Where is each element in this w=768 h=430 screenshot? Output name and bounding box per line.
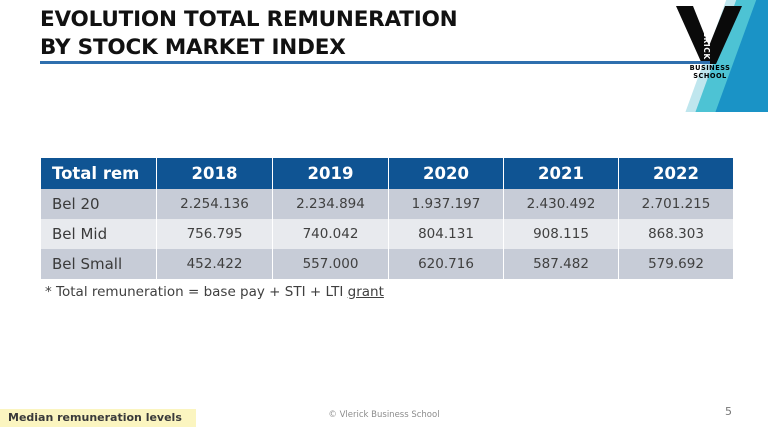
table-header: Total rem 2018 2019 2020 2021 2022	[41, 158, 733, 189]
copyright-notice: © Vlerick Business School	[0, 410, 768, 420]
cell-value: 2.254.136	[157, 189, 272, 219]
column-header-2021: 2021	[504, 158, 618, 189]
vlerick-logo: VLERICK BUSINESS SCHOOL	[658, 0, 768, 112]
row-label: Bel 20	[41, 189, 156, 219]
column-header-label: Total rem	[41, 158, 156, 189]
logo-subtitle-line1: BUSINESS	[674, 64, 746, 72]
logo-subtitle-line2: SCHOOL	[674, 72, 746, 80]
remuneration-table-wrapper: Total rem 2018 2019 2020 2021 2022 Bel 2…	[40, 158, 729, 279]
page-number: 5	[725, 405, 732, 418]
table-row: Bel Small 452.422 557.000 620.716 587.48…	[41, 249, 733, 279]
column-header-2020: 2020	[389, 158, 503, 189]
cell-value: 2.430.492	[504, 189, 618, 219]
page-title-line2: BY STOCK MARKET INDEX	[40, 34, 660, 62]
page-title-line1: EVOLUTION TOTAL REMUNERATION	[40, 6, 660, 34]
cell-value: 579.692	[619, 249, 733, 279]
footnote-text: * Total remuneration = base pay + STI + …	[45, 284, 348, 300]
slide-canvas: VLERICK BUSINESS SCHOOL EVOLUTION TOTAL …	[0, 0, 768, 430]
row-label: Bel Mid	[41, 219, 156, 249]
cell-value: 756.795	[157, 219, 272, 249]
cell-value: 587.482	[504, 249, 618, 279]
remuneration-table: Total rem 2018 2019 2020 2021 2022 Bel 2…	[40, 158, 734, 279]
cell-value: 804.131	[389, 219, 503, 249]
cell-value: 452.422	[157, 249, 272, 279]
cell-value: 1.937.197	[389, 189, 503, 219]
logo-wordmark: VLERICK	[702, 20, 711, 60]
cell-value: 740.042	[273, 219, 388, 249]
logo-subtitle: BUSINESS SCHOOL	[674, 64, 746, 80]
footnote-underlined-text: grant	[348, 284, 384, 300]
cell-value: 620.716	[389, 249, 503, 279]
row-label: Bel Small	[41, 249, 156, 279]
cell-value: 557.000	[273, 249, 388, 279]
footnote: * Total remuneration = base pay + STI + …	[45, 284, 384, 300]
cell-value: 2.234.894	[273, 189, 388, 219]
cell-value: 908.115	[504, 219, 618, 249]
table-header-row: Total rem 2018 2019 2020 2021 2022	[41, 158, 733, 189]
page-title: EVOLUTION TOTAL REMUNERATION BY STOCK MA…	[40, 6, 660, 63]
table-row: Bel Mid 756.795 740.042 804.131 908.115 …	[41, 219, 733, 249]
table-row: Bel 20 2.254.136 2.234.894 1.937.197 2.4…	[41, 189, 733, 219]
cell-value: 2.701.215	[619, 189, 733, 219]
cell-value: 868.303	[619, 219, 733, 249]
title-divider	[40, 61, 710, 64]
table-body: Bel 20 2.254.136 2.234.894 1.937.197 2.4…	[41, 189, 733, 279]
logo-mark: VLERICK BUSINESS SCHOOL	[674, 6, 746, 92]
column-header-2019: 2019	[273, 158, 388, 189]
column-header-2018: 2018	[157, 158, 272, 189]
column-header-2022: 2022	[619, 158, 733, 189]
